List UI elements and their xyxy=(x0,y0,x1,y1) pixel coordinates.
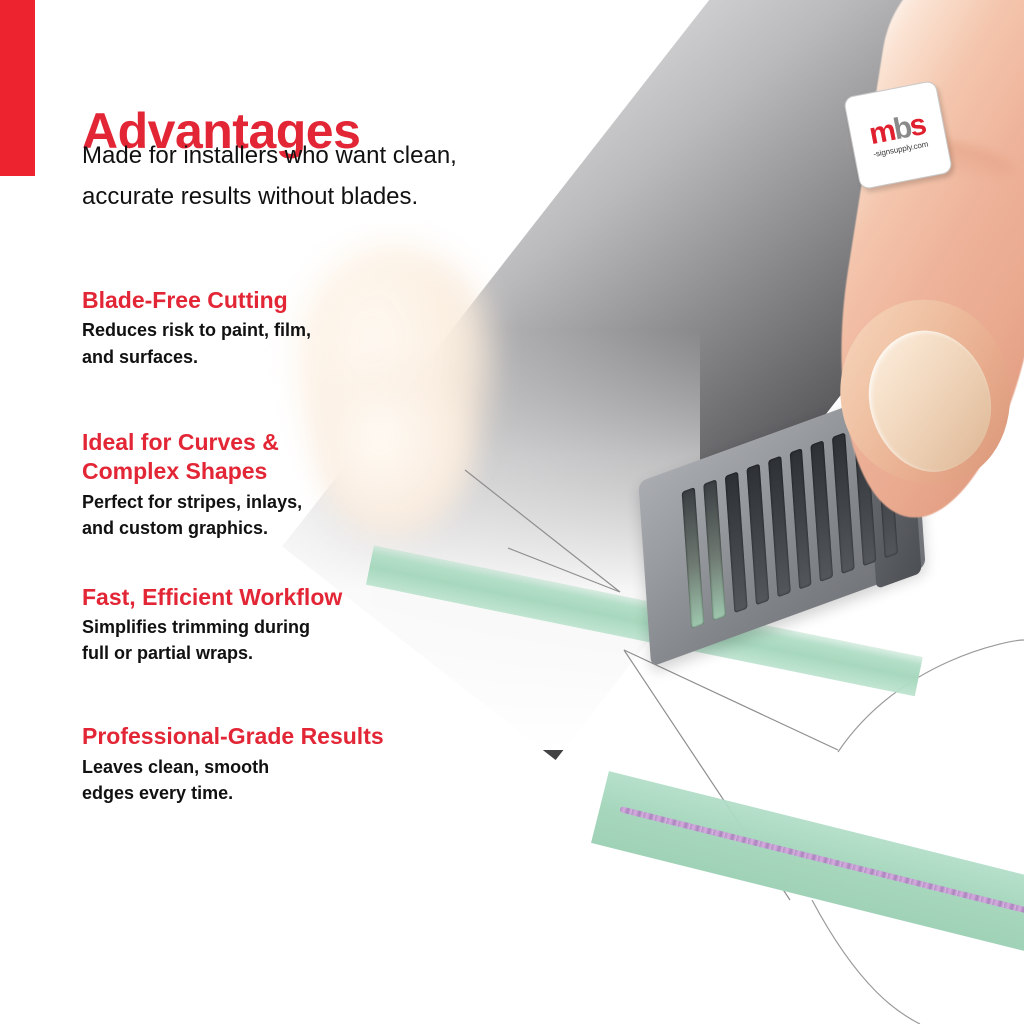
feature-title-line-1: Blade-Free Cutting xyxy=(82,286,502,315)
feature-item-blade-free-cutting: Blade-Free Cutting Reduces risk to paint… xyxy=(82,286,502,370)
brand-logo[interactable]: mbs -signsupply.com xyxy=(843,80,953,190)
feature-description-line-2: and surfaces. xyxy=(82,344,502,370)
page-subtitle-line-2: accurate results without blades. xyxy=(82,177,602,218)
feature-description-line-2: and custom graphics. xyxy=(82,515,502,541)
feature-list: Blade-Free Cutting Reduces risk to paint… xyxy=(82,286,502,846)
tool-slot xyxy=(703,479,726,621)
page-subtitle: Made for installers who want clean, accu… xyxy=(82,136,602,218)
feature-item-professional-grade-results: Professional-Grade Results Leaves clean,… xyxy=(82,722,502,806)
feature-title: Fast, Efficient Workflow xyxy=(82,583,502,612)
feature-title-line-1: Professional-Grade Results xyxy=(82,722,502,751)
tool-slot xyxy=(789,448,812,590)
feature-title: Professional-Grade Results xyxy=(82,722,502,751)
feature-description: Reduces risk to paint, film, and surface… xyxy=(82,317,502,369)
feature-description: Simplifies trimming during full or parti… xyxy=(82,614,502,666)
feature-title: Blade-Free Cutting xyxy=(82,286,502,315)
poster-canvas: Advantages Made for installers who want … xyxy=(0,0,1024,1024)
feature-description: Leaves clean, smooth edges every time. xyxy=(82,754,502,806)
tool-slot xyxy=(746,464,769,606)
feature-description-line-1: Reduces risk to paint, film, xyxy=(82,317,502,343)
tool-slot xyxy=(768,456,791,598)
feature-title: Ideal for Curves & Complex Shapes xyxy=(82,428,502,487)
feature-title-line-2: Complex Shapes xyxy=(82,457,502,486)
feature-description-line-2: edges every time. xyxy=(82,780,502,806)
feature-item-ideal-for-curves: Ideal for Curves & Complex Shapes Perfec… xyxy=(82,428,502,541)
feature-item-fast-efficient-workflow: Fast, Efficient Workflow Simplifies trim… xyxy=(82,583,502,667)
feature-description-line-2: full or partial wraps. xyxy=(82,640,502,666)
feature-description-line-1: Leaves clean, smooth xyxy=(82,754,502,780)
tool-slot xyxy=(832,432,855,574)
feature-title-line-1: Ideal for Curves & xyxy=(82,428,502,457)
feature-description: Perfect for stripes, inlays, and custom … xyxy=(82,489,502,541)
tool-slot xyxy=(725,471,748,613)
page-subtitle-line-1: Made for installers who want clean, xyxy=(82,136,602,177)
tool-slot xyxy=(811,440,834,582)
feature-title-line-1: Fast, Efficient Workflow xyxy=(82,583,502,612)
feature-description-line-1: Perfect for stripes, inlays, xyxy=(82,489,502,515)
feature-description-line-1: Simplifies trimming during xyxy=(82,614,502,640)
red-accent-bar xyxy=(0,0,35,176)
